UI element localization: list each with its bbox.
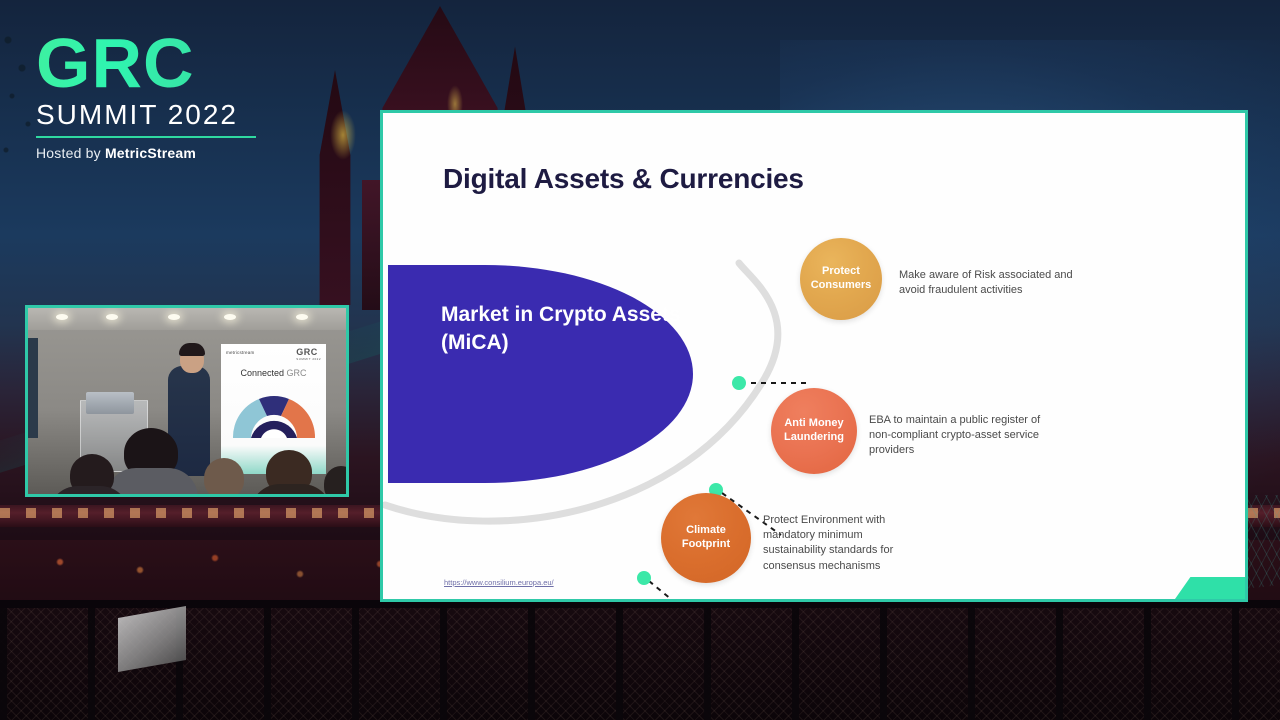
banner-company-logo: metricstream (226, 350, 254, 355)
ceiling-light (168, 314, 180, 320)
slide-title: Digital Assets & Currencies (443, 163, 804, 195)
laptop (86, 392, 134, 414)
logo-grc-text: GRC (36, 30, 256, 97)
logo-summit-text: SUMMIT 2022 (36, 99, 256, 131)
corner-accent-shape (1175, 577, 1245, 599)
source-url-link[interactable]: https://www.consilium.europa.eu/ (444, 578, 554, 587)
bubble-anti-money-laundering: Anti Money Laundering (771, 388, 857, 474)
description-anti-money-laundering: EBA to maintain a public register of non… (869, 413, 1044, 459)
ceiling-light (56, 314, 68, 320)
audience-member (324, 466, 349, 497)
mica-label: Market in Crypto Assets (MiCA) (441, 301, 681, 358)
banner-event-logo: GRCSUMMIT 2022 (296, 347, 321, 361)
foliage-speckle (0, 20, 40, 170)
ceiling-light (224, 314, 236, 320)
banner-event-sub: SUMMIT 2022 (296, 357, 321, 361)
ceiling-light (106, 314, 118, 320)
connector-node-3 (637, 571, 651, 585)
banner-title-part2: GRC (287, 368, 307, 378)
banner-event-name: GRC (296, 347, 318, 357)
presenter-video-feed[interactable]: metricstream GRCSUMMIT 2022 Connected GR… (25, 305, 349, 497)
banner-title-part1: Connected (240, 368, 286, 378)
presenter-hair (179, 343, 205, 356)
hosted-prefix: Hosted by (36, 145, 105, 161)
connector-node-1 (732, 376, 746, 390)
host-name: MetricStream (105, 145, 196, 161)
presentation-slide[interactable]: Digital Assets & Currencies Market in Cr… (380, 110, 1248, 602)
bubble-protect-consumers: Protect Consumers (800, 238, 882, 320)
banner-arc-diagram (229, 386, 319, 438)
slide-content: Digital Assets & Currencies Market in Cr… (383, 113, 1245, 599)
logo-hosted-by: Hosted by MetricStream (36, 145, 256, 161)
banner-title: Connected GRC (221, 368, 326, 378)
bubble-climate-footprint: Climate Footprint (661, 493, 751, 583)
description-climate-footprint: Protect Environment with mandatory minim… (763, 513, 928, 574)
wall-panel (28, 338, 38, 438)
bridge-railing (0, 600, 1280, 720)
audience-member (204, 458, 244, 497)
logo-divider (36, 136, 256, 138)
grc-summit-logo: GRC SUMMIT 2022 Hosted by MetricStream (36, 30, 256, 161)
tower-light-glow-left (330, 110, 356, 160)
description-protect-consumers: Make aware of Risk associated and avoid … (899, 268, 1084, 298)
ceiling-light (296, 314, 308, 320)
mica-shape (388, 265, 693, 483)
